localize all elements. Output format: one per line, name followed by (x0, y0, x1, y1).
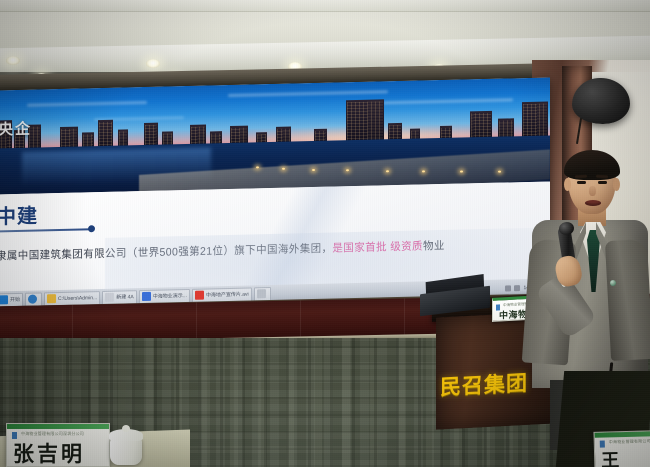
conference-photo-scene: 央企 中建 隶属中国建筑集团有限公司（世界500强第21位）旗下中国海外集团，是… (0, 0, 650, 467)
nameplate-organization: 中海物业管理有限公司深圳分公司 (21, 431, 105, 437)
eyebrow-left (575, 175, 587, 179)
video-player-icon (195, 291, 204, 300)
ppt-icon (142, 292, 151, 301)
arm-right (605, 239, 650, 361)
slide-body-tail: 物业 (423, 240, 445, 253)
slide-body-highlight: 是国家首批 级资质 (332, 240, 423, 255)
lapel-pin-icon (610, 280, 616, 286)
internet-explorer-icon (28, 295, 37, 304)
nameplate-name: 张吉明 (13, 438, 105, 467)
mouth-speaking (585, 200, 601, 206)
eye-right (598, 181, 607, 184)
ceiling-downlight (146, 59, 160, 68)
window-icon (257, 289, 266, 298)
nameplate-accent-bar (7, 424, 109, 429)
windows-start-icon (0, 295, 8, 304)
taskbar-start-button[interactable]: 开始 (0, 292, 23, 307)
hair (564, 150, 620, 180)
taskbar-item-browser[interactable] (25, 292, 42, 306)
nameplate-right: 中海物业管理有限公司 王 (593, 430, 650, 467)
slide-photo-cityscape: 央企 (0, 77, 550, 194)
loudspeaker-icon (572, 78, 630, 124)
taskbar-item-label: 中海地产宣传片.avi (206, 291, 249, 299)
taskbar-item-label: 中海物业演示... (153, 292, 187, 300)
ear-left (564, 178, 571, 191)
teacup (108, 425, 144, 465)
teacup-body (110, 437, 142, 465)
slide-body-text: 隶属中国建筑集团有限公司（世界500强第21位）旗下中国海外集团，是国家首批 级… (0, 235, 536, 263)
slide-brand-dot (88, 225, 95, 232)
nameplate-left: 中海物业管理有限公司深圳分公司 张吉明 (6, 423, 110, 467)
nose (589, 186, 596, 196)
nameplate-organization: 中海物业管理有限公司 (609, 438, 650, 445)
nameplate-accent-bar (595, 431, 650, 438)
taskbar-item-label: C:\Users\Admin... (58, 295, 97, 302)
taskbar-item-window[interactable] (254, 287, 271, 301)
nameplate-name: 王 (601, 445, 650, 467)
teacup-knob (122, 425, 130, 432)
slide-overlay-text: 央企 (0, 118, 32, 140)
slide-brand-title: 中建 (0, 200, 38, 230)
eyebrow-right (596, 175, 608, 179)
taskbar-item-label: 新建 4A (116, 293, 134, 300)
slide-body-lead: 隶属中国建筑集团有限公司（世界500强第21位）旗下中国海外集团， (0, 242, 332, 263)
projection-screen: 央企 中建 隶属中国建筑集团有限公司（世界500强第21位）旗下中国海外集团，是… (0, 77, 550, 308)
network-icon[interactable] (505, 285, 511, 291)
ceiling-downlight (6, 56, 20, 65)
taskbar-item-document[interactable]: 新建 4A (102, 290, 137, 305)
ear-right (613, 178, 620, 191)
presentation-slide: 央企 中建 隶属中国建筑集团有限公司（世界500强第21位）旗下中国海外集团，是… (0, 77, 550, 308)
eye-left (577, 181, 586, 184)
document-icon (105, 293, 114, 302)
folder-icon (47, 294, 56, 303)
taskbar-item-label: 开始 (10, 296, 20, 303)
speaker-person (520, 148, 648, 388)
ceiling-cornice (0, 0, 650, 12)
